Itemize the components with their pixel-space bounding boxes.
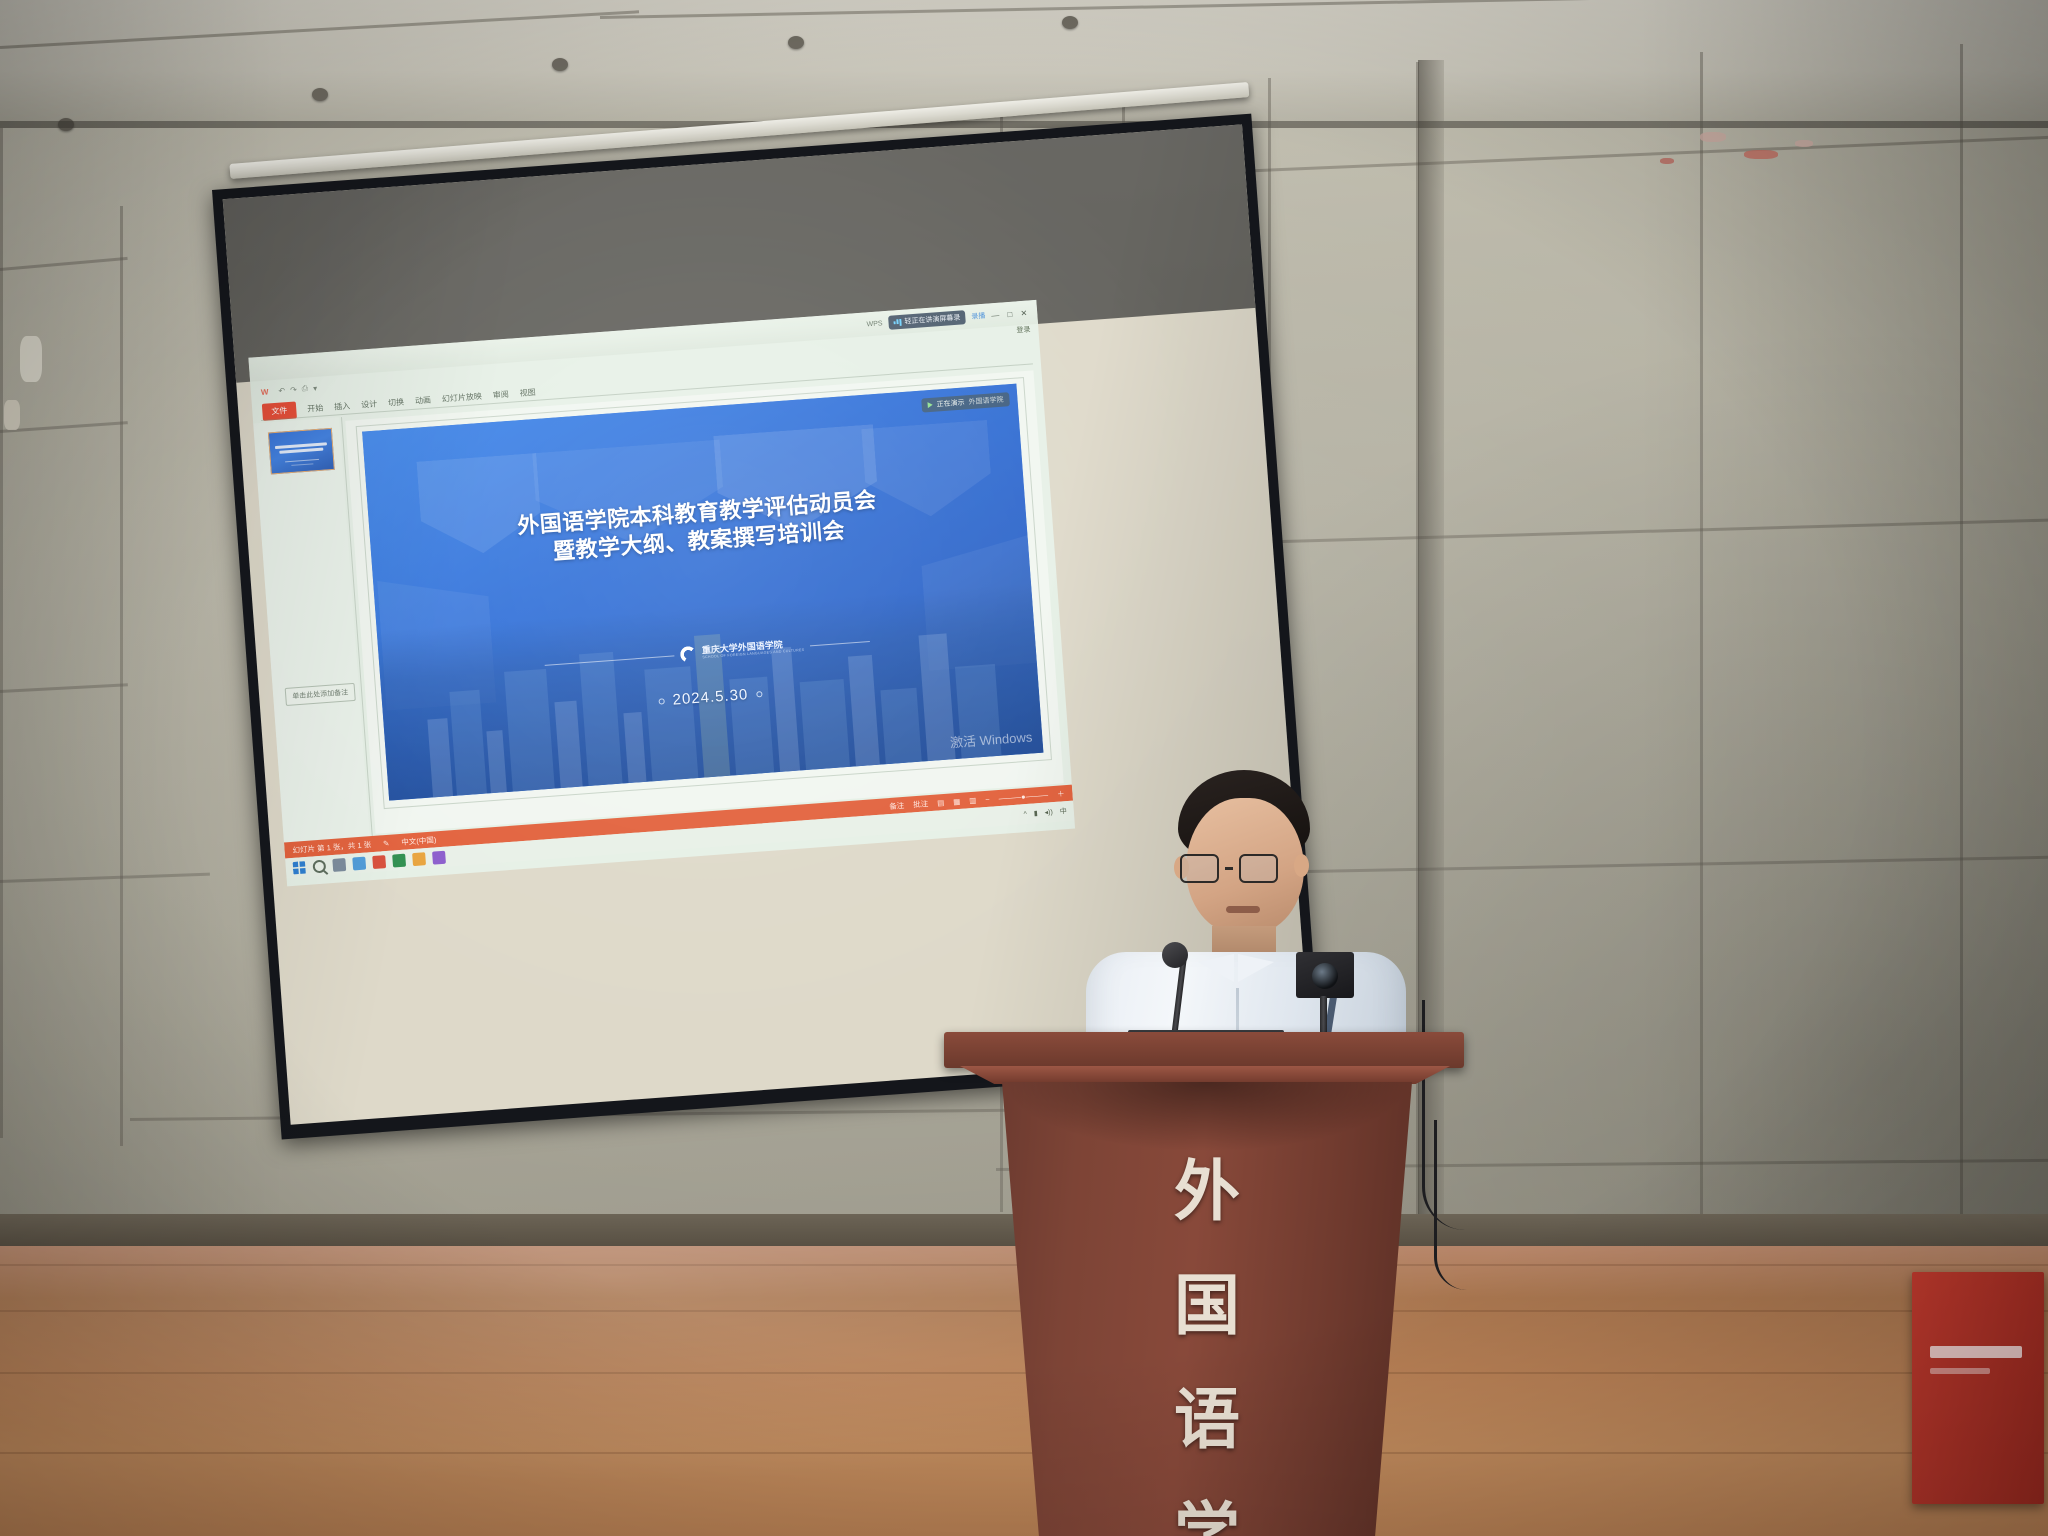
podium-bevel [960, 1066, 1450, 1084]
podium-top [944, 1032, 1464, 1068]
wps-app-name: WPS [866, 320, 882, 328]
quick-access-toolbar[interactable]: W 保存 ↶ ↷ ⎙ ▾ [261, 383, 318, 397]
qat-undo[interactable]: ↶ [278, 386, 285, 395]
tab-review[interactable]: 审阅 [492, 389, 509, 401]
spellcheck-icon[interactable]: ✎ [383, 838, 390, 847]
podium-char-3: 语 [1002, 1366, 1412, 1462]
presenting-target: 外国语学院 [968, 395, 1004, 408]
view-reading-icon[interactable]: ▥ [969, 795, 977, 804]
screen-record-action[interactable]: 录播 [971, 311, 986, 322]
podium-char-2: 国 [1002, 1252, 1412, 1348]
cqu-logo-icon [680, 646, 697, 663]
window-controls[interactable]: — □ ✕ [991, 308, 1031, 320]
zoom-slider[interactable]: ———●——— [998, 790, 1048, 803]
tab-animation[interactable]: 动画 [415, 395, 432, 407]
zoom-in-button[interactable]: ＋ [1057, 788, 1065, 800]
taskbar-media-icon[interactable] [432, 850, 446, 864]
slide-thumbnail-1[interactable] [268, 428, 335, 475]
login-button[interactable]: 登录 [1016, 324, 1031, 335]
tray-expand-icon[interactable]: ^ [1023, 811, 1027, 818]
taskbar-browser-icon[interactable] [352, 856, 366, 870]
view-normal-icon[interactable]: ▤ [937, 798, 945, 807]
photo-scene: WPS 轻正在讲演屏幕录 录播 — □ ✕ 登录 W 保存 ↶ [0, 0, 2048, 1536]
podium-body: 外 国 语 学 [1002, 1082, 1412, 1536]
qat-more[interactable]: ▾ [313, 383, 318, 392]
tray-ime-icon[interactable]: 中 [1059, 806, 1067, 816]
date-dot-left [659, 698, 665, 704]
status-comments[interactable]: 批注 [913, 798, 929, 810]
signal-bars-icon [893, 318, 901, 326]
tab-slideshow[interactable]: 幻灯片放映 [442, 391, 483, 405]
tab-design[interactable]: 设计 [361, 398, 378, 410]
status-language[interactable]: 中文(中国) [401, 834, 437, 848]
search-icon[interactable] [312, 859, 326, 873]
screen-record-label: 轻正在讲演屏幕录 [904, 313, 961, 327]
wps-presentation-window[interactable]: WPS 轻正在讲演屏幕录 录播 — □ ✕ 登录 W 保存 ↶ [248, 300, 1075, 886]
wps-logo-icon: W [261, 387, 269, 397]
date-dot-right [756, 691, 762, 697]
status-notes[interactable]: 备注 [889, 799, 905, 811]
tab-start[interactable]: 开始 [307, 402, 324, 414]
tray-volume-icon[interactable]: ◂)) [1044, 808, 1053, 817]
speaker-glasses [1180, 854, 1278, 883]
microphone-head [1162, 942, 1188, 968]
zoom-out-button[interactable]: − [985, 794, 990, 803]
projection-screen: WPS 轻正在讲演屏幕录 录播 — □ ✕ 登录 W 保存 ↶ [172, 108, 1282, 1088]
presenting-label: 正在演示 [936, 397, 965, 409]
speaker-mouth [1226, 906, 1260, 913]
tab-view[interactable]: 视图 [519, 387, 536, 399]
fire-extinguisher-cabinet [1912, 1272, 2044, 1504]
taskbar-folder-icon[interactable] [412, 852, 426, 866]
slide-canvas[interactable]: 外国语学院本科教育教学评估动员会 暨教学大纲、教案撰写培训会 重庆大学外国语学院… [362, 384, 1043, 801]
view-sorter-icon[interactable]: ▦ [953, 796, 961, 805]
screen-record-chip[interactable]: 轻正在讲演屏幕录 [888, 310, 966, 330]
cable-2 [1434, 1120, 1467, 1290]
podium-char-1: 外 [1002, 1138, 1412, 1234]
speaker-ear-right [1294, 854, 1309, 877]
tab-transition[interactable]: 切换 [388, 397, 405, 409]
taskbar-mail-icon[interactable] [392, 853, 406, 867]
system-tray[interactable]: ^ ▮ ◂)) 中 [1023, 806, 1067, 819]
qat-redo[interactable]: ↷ [290, 385, 297, 394]
qat-print[interactable]: ⎙ [301, 384, 308, 394]
start-button-icon[interactable] [292, 860, 306, 874]
camera [1296, 952, 1354, 998]
tray-network-icon[interactable]: ▮ [1034, 809, 1038, 817]
podium-char-4: 学 [1002, 1480, 1412, 1536]
tab-insert[interactable]: 插入 [334, 400, 351, 412]
taskbar-wps-icon[interactable] [372, 855, 386, 869]
play-icon [927, 402, 932, 408]
task-view-icon[interactable] [332, 858, 346, 872]
slide-stage: 外国语学院本科教育教学评估动员会 暨教学大纲、教案撰写培训会 重庆大学外国语学院… [345, 370, 1063, 833]
